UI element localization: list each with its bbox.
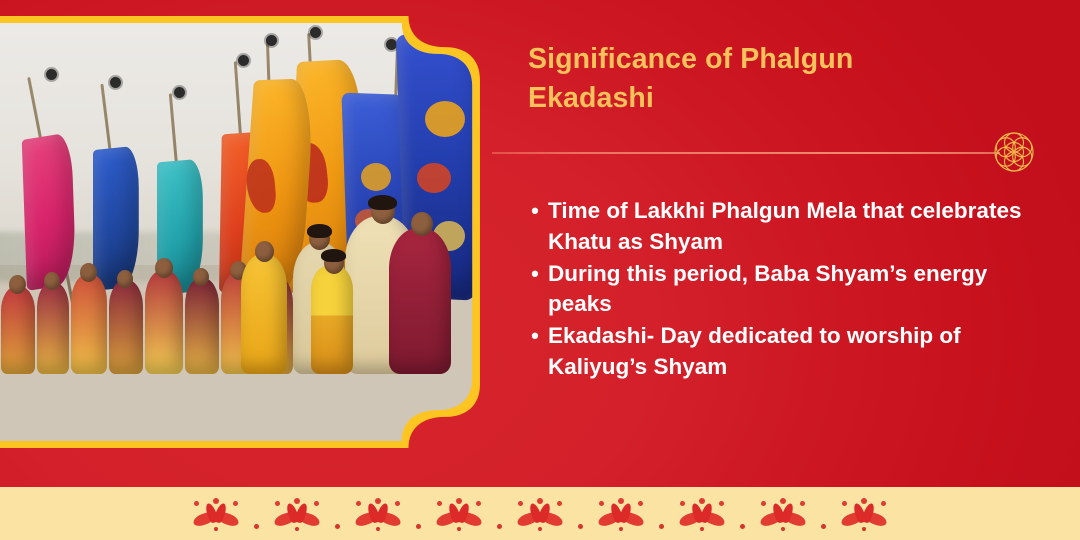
footer-decorative-band: [0, 487, 1080, 540]
title-divider: [492, 152, 1000, 154]
lotus-palmette-motif: [193, 496, 239, 532]
bullet-list: • Time of Lakkhi Phalgun Mela that celeb…: [522, 196, 1050, 384]
devotee-figure: [1, 286, 35, 374]
devotee-figure: [241, 254, 287, 374]
lotus-palmette-motif: [841, 496, 887, 532]
motif-separator-dot: [497, 524, 502, 529]
bullet-marker: •: [522, 321, 548, 383]
crowd-of-devotees: [0, 182, 479, 374]
child-hair: [321, 249, 346, 262]
list-item: • Ekadashi- Day dedicated to worship of …: [522, 321, 1050, 383]
title-line-1: Significance of Phalgun: [528, 43, 853, 75]
devotee-hair: [368, 195, 397, 210]
content-column: Significance of Phalgun Ekadashi: [516, 0, 1080, 487]
devotee-figure: [185, 278, 219, 374]
devotee-head: [80, 263, 97, 282]
lotus-palmette-motif: [760, 496, 806, 532]
devotee-head: [117, 270, 133, 288]
devotee-figure: [389, 228, 451, 374]
flag-finial: [174, 87, 185, 98]
flag-finial: [238, 55, 249, 66]
lotus-palmette-motif: [274, 496, 320, 532]
photo-artwork: [0, 23, 479, 441]
bullet-marker: •: [522, 196, 548, 258]
motif-separator-dot: [578, 524, 583, 529]
lotus-palmette-motif: [679, 496, 725, 532]
child-figure: [311, 266, 353, 374]
flag-finial: [46, 69, 57, 80]
lotus-palmette-motif: [355, 496, 401, 532]
devotee-head: [411, 212, 433, 236]
devotee-head: [155, 258, 173, 278]
motif-separator-dot: [740, 524, 745, 529]
title-line-2: Ekadashi: [528, 82, 654, 114]
devotee-figure: [109, 280, 143, 374]
motif-separator-dot: [821, 524, 826, 529]
devotee-figure: [37, 282, 69, 374]
devotee-head: [9, 275, 26, 294]
motif-separator-dot: [659, 524, 664, 529]
bullet-marker: •: [522, 259, 548, 321]
list-item: • Time of Lakkhi Phalgun Mela that celeb…: [522, 196, 1050, 258]
flag-finial: [266, 35, 277, 46]
mandala-rosette-icon: [982, 120, 1046, 184]
photo-card: [0, 16, 486, 448]
bullet-text: Time of Lakkhi Phalgun Mela that celebra…: [548, 196, 1050, 258]
devotee-hair: [307, 224, 332, 238]
devotee-head: [193, 268, 209, 286]
flag-finial: [110, 77, 121, 88]
lotus-palmette-motif: [436, 496, 482, 532]
flag-finial: [310, 27, 321, 38]
devotee-head: [255, 241, 274, 262]
lotus-palmette-motif: [517, 496, 563, 532]
devotee-head: [44, 272, 60, 290]
list-item: • During this period, Baba Shyam’s energ…: [522, 259, 1050, 321]
devotee-figure: [71, 274, 107, 374]
devotee-figure: [145, 270, 183, 374]
bullet-text: Ekadashi- Day dedicated to worship of Ka…: [548, 321, 1050, 383]
slide-canvas: Significance of Phalgun Ekadashi: [0, 0, 1080, 540]
procession-photo: [0, 23, 479, 441]
motif-row: [193, 494, 887, 534]
flag-emblem: [425, 101, 465, 137]
lotus-palmette-motif: [598, 496, 644, 532]
motif-separator-dot: [254, 524, 259, 529]
page-title: Significance of Phalgun Ekadashi: [528, 40, 928, 118]
bullet-text: During this period, Baba Shyam’s energy …: [548, 259, 1050, 321]
motif-separator-dot: [335, 524, 340, 529]
motif-separator-dot: [416, 524, 421, 529]
